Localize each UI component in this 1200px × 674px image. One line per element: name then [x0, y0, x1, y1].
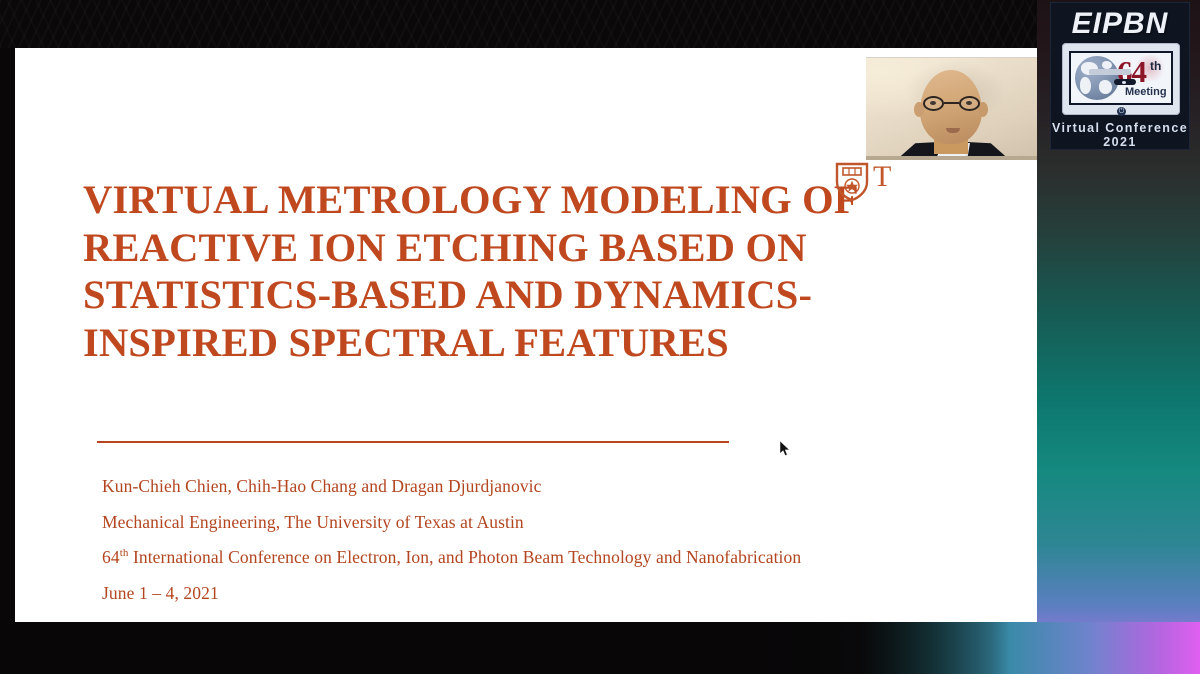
eipbn-meeting-label: Meeting [1125, 86, 1167, 98]
eipbn-acronym: EIPBN [1051, 7, 1189, 41]
mouse-pointer [780, 441, 791, 457]
ut-austin-shield-icon [834, 160, 870, 202]
presenter-glasses-icon [923, 96, 980, 111]
eipbn-webcam-icon [1114, 79, 1136, 85]
slide-authors: Kun-Chieh Chien, Chih-Hao Chang and Drag… [102, 476, 542, 497]
ut-austin-wordmark: T [873, 160, 1023, 196]
conference-name: International Conference on Electron, Io… [128, 547, 801, 567]
screen-capture: Virtual metrology modeling of reactive i… [0, 0, 1200, 674]
video-foreground-desk [866, 156, 1037, 160]
eipbn-tagline: Virtual Conference 2021 [1051, 121, 1189, 149]
eipbn-meeting-ordinal: th [1150, 59, 1161, 73]
power-icon: ⏻ [1117, 107, 1126, 116]
eipbn-monitor-graphic: 64 th Meeting ⏻ [1062, 43, 1180, 115]
slide-title: Virtual metrology modeling of reactive i… [83, 176, 873, 366]
globe-icon [1075, 56, 1119, 100]
title-divider-rule [97, 441, 729, 443]
presenter-video-overlay[interactable] [866, 57, 1037, 160]
eipbn-monitor-stand [1089, 69, 1131, 75]
backdrop-left [0, 48, 16, 622]
slide-affiliation: Mechanical Engineering, The University o… [102, 512, 524, 533]
eipbn-conference-logo: EIPBN 64 th Meeting ⏻ [1050, 2, 1190, 150]
backdrop-top [0, 0, 1037, 48]
slide-dates: June 1 – 4, 2021 [102, 583, 219, 604]
eipbn-monitor-bezel: 64 th Meeting [1069, 51, 1173, 105]
conference-number: 64 [102, 547, 120, 567]
eipbn-monitor-screen: 64 th Meeting [1071, 53, 1171, 103]
backdrop-bottom-left [0, 622, 1010, 674]
slide-conference-line: 64th International Conference on Electro… [102, 547, 801, 568]
